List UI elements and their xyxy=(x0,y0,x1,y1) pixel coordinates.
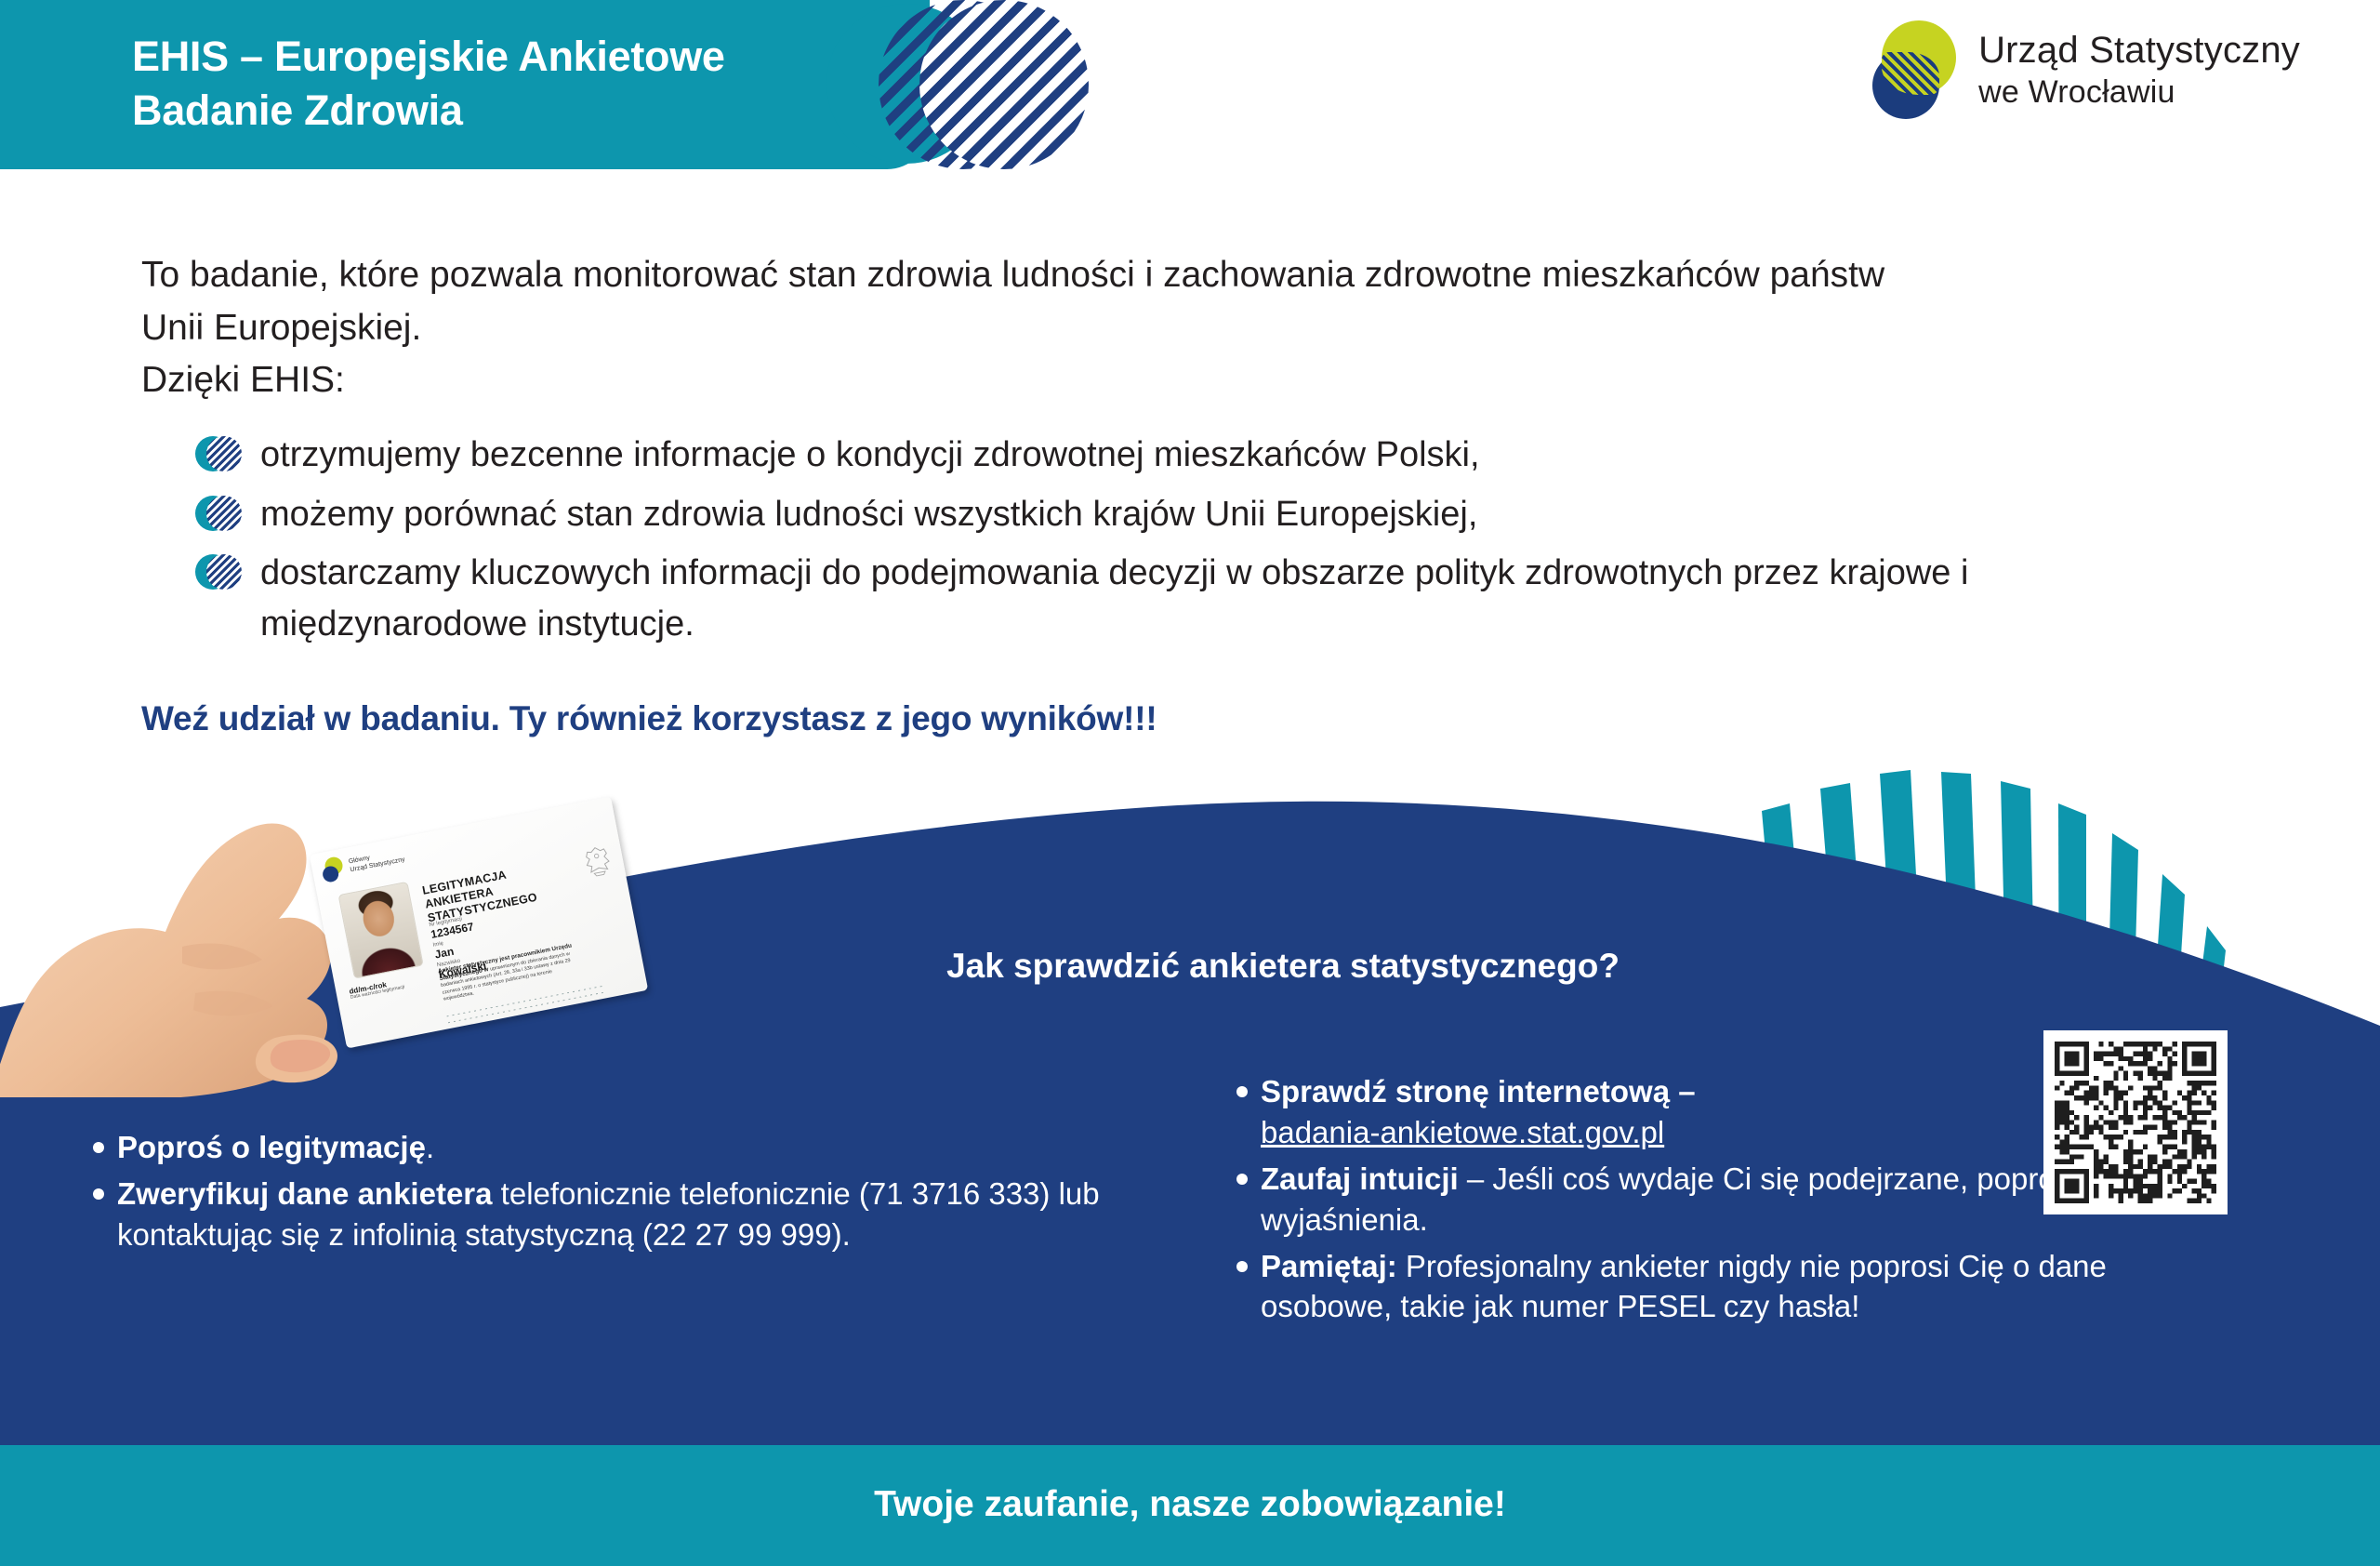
logo-line-1: Urząd Statystyczny xyxy=(1978,28,2300,73)
striped-circle-bullet-icon xyxy=(195,436,245,473)
website-link[interactable]: badania-ankietowe.stat.gov.pl xyxy=(1261,1115,1664,1149)
benefits-list: otrzymujemy bezcenne informacje o kondyc… xyxy=(195,430,2278,658)
verify-heading: Jak sprawdzić ankietera statystycznego? xyxy=(818,947,1748,986)
header-striped-circle-front xyxy=(919,0,1089,169)
card-photo xyxy=(338,882,424,979)
list-item: Zaufaj intuicji – Jeśli coś wydaje Ci si… xyxy=(1236,1159,2166,1241)
verify-left-text-2: Zweryfikuj dane ankietera telefonicznie … xyxy=(117,1174,1236,1255)
dot-bullet-icon xyxy=(1236,1261,1248,1272)
dot-bullet-icon xyxy=(1236,1174,1248,1185)
striped-circle-bullet-icon xyxy=(195,554,245,591)
list-item: Pamiętaj: Profesjonalny ankieter nigdy n… xyxy=(1236,1246,2166,1328)
verify-right-text-3: Pamiętaj: Profesjonalny ankieter nigdy n… xyxy=(1261,1246,2166,1328)
benefit-text: możemy porównać stan zdrowia ludności ws… xyxy=(260,489,1477,540)
card-org-text: Główny Urząd Statystyczny xyxy=(348,848,405,875)
footer-slogan: Twoje zaufanie, nasze zobowiązanie! xyxy=(0,1484,2380,1525)
list-item: otrzymujemy bezcenne informacje o kondyc… xyxy=(195,430,2278,481)
qr-code-container[interactable] xyxy=(2043,1030,2228,1214)
benefit-text: otrzymujemy bezcenne informacje o kondyc… xyxy=(260,430,1480,481)
verify-right-text-1: Sprawdź stronę internetową –badania-anki… xyxy=(1261,1071,1696,1153)
header-decorative-circles xyxy=(906,0,1111,171)
gus-logo-icon xyxy=(1869,19,1960,121)
intro-paragraph: To badanie, które pozwala monitorować st… xyxy=(141,249,2205,407)
verify-right-bold-1: Sprawdź stronę internetową – xyxy=(1261,1074,1696,1108)
benefit-text: dostarczamy kluczowych informacji do pod… xyxy=(260,548,2231,649)
logo-text: Urząd Statystyczny we Wrocławiu xyxy=(1978,28,2300,112)
list-item: możemy porównać stan zdrowia ludności ws… xyxy=(195,489,2278,540)
hand-holding-id-card: Główny Urząd Statystyczny LEGITYMACJA AN… xyxy=(0,763,707,1097)
list-item: Poproś o legitymację. xyxy=(93,1127,1236,1168)
polish-eagle-icon xyxy=(581,843,615,881)
list-item: dostarczamy kluczowych informacji do pod… xyxy=(195,548,2278,649)
verify-left-text-1: Poproś o legitymację. xyxy=(117,1127,434,1168)
verify-right-bold-2: Zaufaj intuicji xyxy=(1261,1161,1459,1196)
verify-left-rest-1: . xyxy=(426,1130,434,1164)
call-to-action-text: Weź udział w badaniu. Ty również korzyst… xyxy=(141,699,1157,738)
institution-logo: Urząd Statystyczny we Wrocławiu xyxy=(1869,19,2300,121)
verify-right-bold-3: Pamiętaj: xyxy=(1261,1249,1397,1283)
verify-right-text-2: Zaufaj intuicji – Jeśli coś wydaje Ci si… xyxy=(1261,1159,2166,1241)
striped-circle-bullet-icon xyxy=(195,496,245,533)
logo-line-2: we Wrocławiu xyxy=(1978,73,2300,112)
verify-left-bold-2: Zweryfikuj dane ankietera xyxy=(117,1176,493,1211)
dot-bullet-icon xyxy=(93,1188,104,1200)
page-title: EHIS – Europejskie Ankietowe Badanie Zdr… xyxy=(132,30,894,137)
list-item: Zweryfikuj dane ankietera telefonicznie … xyxy=(93,1174,1236,1255)
flyer-page: EHIS – Europejskie Ankietowe Badanie Zdr… xyxy=(0,0,2380,1566)
verify-right-column: Sprawdź stronę internetową –badania-anki… xyxy=(1236,1071,2166,1333)
dot-bullet-icon xyxy=(1236,1086,1248,1097)
qr-code-icon[interactable] xyxy=(2055,1042,2216,1203)
gus-logo-icon xyxy=(319,856,348,885)
list-item: Sprawdź stronę internetową –badania-anki… xyxy=(1236,1071,2166,1153)
verify-left-column: Poproś o legitymację. Zweryfikuj dane an… xyxy=(93,1127,1236,1261)
verify-left-bold-1: Poproś o legitymację xyxy=(117,1130,426,1164)
dot-bullet-icon xyxy=(93,1142,104,1153)
